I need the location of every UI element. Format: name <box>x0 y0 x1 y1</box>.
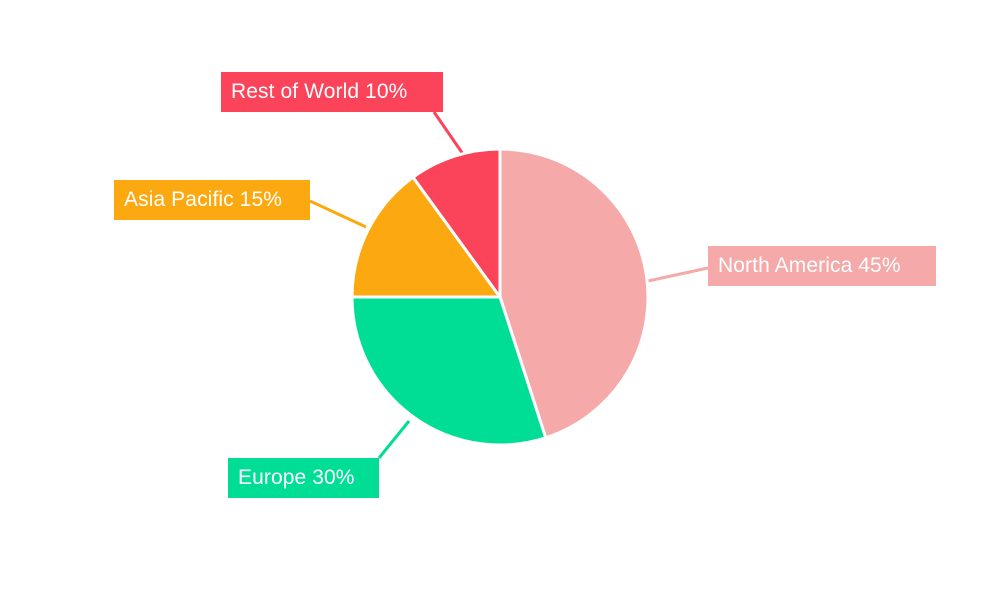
slice-label-text: Rest of World 10% <box>231 72 407 112</box>
pie-slice-group <box>352 149 648 445</box>
leader-line-asia-pacific <box>310 201 366 227</box>
slice-label-text: Asia Pacific 15% <box>124 180 282 220</box>
pie-chart-svg <box>0 0 1000 600</box>
slice-label-asia-pacific[interactable]: Asia Pacific 15% <box>114 180 310 220</box>
slice-label-europe[interactable]: Europe 30% <box>228 458 379 498</box>
leader-line-north-america <box>648 268 708 281</box>
leader-line-europe <box>379 421 409 458</box>
slice-label-text: Europe 30% <box>238 458 355 498</box>
slice-label-north-america[interactable]: North America 45% <box>708 246 936 286</box>
pie-chart-canvas: North America 45% Europe 30% Asia Pacifi… <box>0 0 1000 600</box>
slice-label-rest-of-world[interactable]: Rest of World 10% <box>221 72 443 112</box>
slice-label-text: North America 45% <box>718 246 901 286</box>
leader-line-rest-of-world <box>434 112 465 157</box>
